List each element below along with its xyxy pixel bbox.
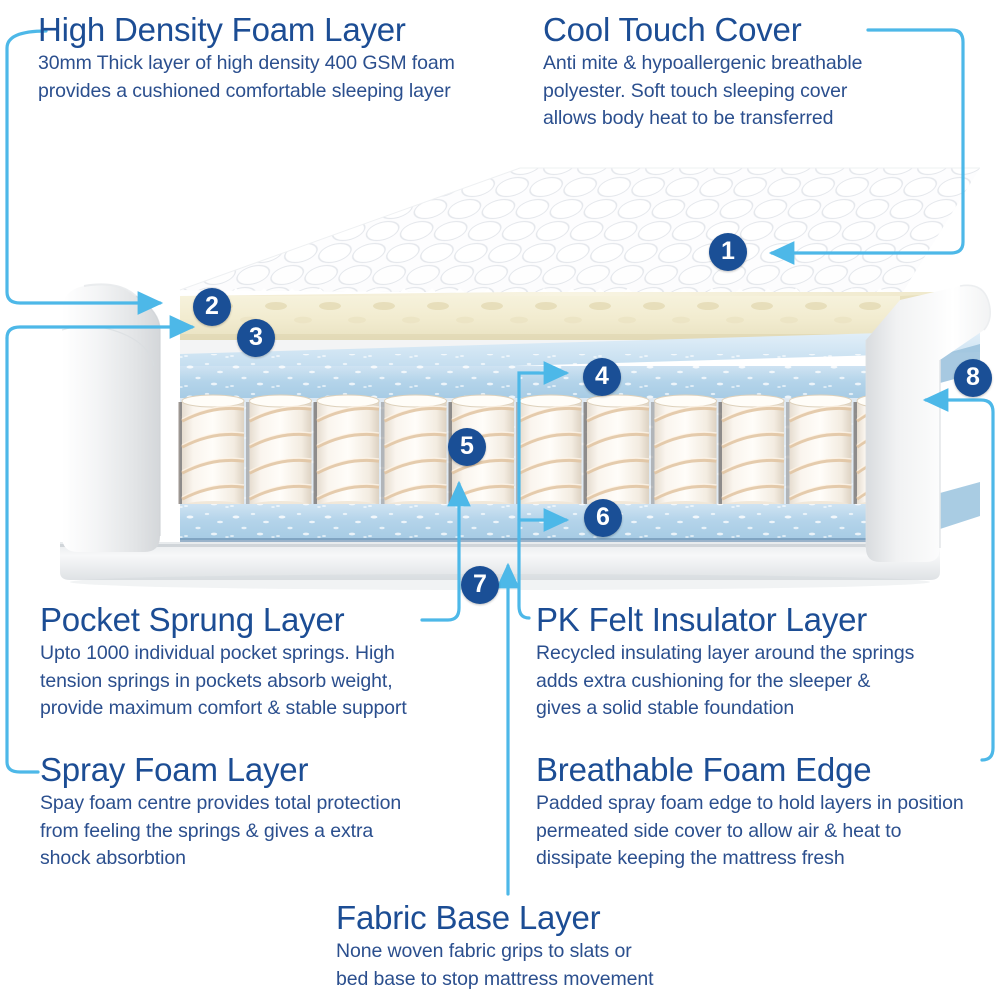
badge-8[interactable]: 8 — [954, 359, 992, 397]
callout-cool-touch-cover: Cool Touch Cover Anti mite & hypoallerge… — [543, 10, 862, 133]
badge-2[interactable]: 2 — [193, 288, 231, 326]
callout-title-high-density-foam: High Density Foam Layer — [38, 10, 455, 50]
callout-body-pk-felt: Recycled insulating layer around the spr… — [536, 640, 914, 723]
badge-4[interactable]: 4 — [583, 358, 621, 396]
callout-title-pk-felt: PK Felt Insulator Layer — [536, 600, 914, 640]
badge-2-label: 2 — [205, 294, 219, 319]
badge-6[interactable]: 6 — [584, 499, 622, 537]
callout-spray-foam-layer: Spray Foam Layer Spay foam centre provid… — [40, 750, 401, 873]
diagram-canvas: 1 2 3 4 5 6 7 8 High Density Foam Layer … — [0, 0, 1000, 1000]
callout-body-high-density-foam: 30mm Thick layer of high density 400 GSM… — [38, 50, 455, 105]
callout-breathable-foam-edge: Breathable Foam Edge Padded spray foam e… — [536, 750, 964, 873]
callout-pocket-sprung-layer: Pocket Sprung Layer Upto 1000 individual… — [40, 600, 407, 723]
callout-body-breathable-foam-edge: Padded spray foam edge to hold layers in… — [536, 790, 964, 873]
callout-title-breathable-foam-edge: Breathable Foam Edge — [536, 750, 964, 790]
callout-fabric-base-layer: Fabric Base Layer None woven fabric grip… — [336, 898, 653, 993]
callout-pk-felt-insulator-layer: PK Felt Insulator Layer Recycled insulat… — [536, 600, 914, 723]
badge-6-label: 6 — [596, 505, 610, 530]
callout-title-spray-foam: Spray Foam Layer — [40, 750, 401, 790]
breathable-foam-edge-left — [62, 284, 160, 552]
callout-body-fabric-base: None woven fabric grips to slats or bed … — [336, 938, 653, 993]
badge-4-label: 4 — [595, 364, 609, 389]
pocket-sprung-layer — [179, 395, 901, 511]
callout-body-pocket-sprung: Upto 1000 individual pocket springs. Hig… — [40, 640, 407, 723]
badge-8-label: 8 — [966, 365, 980, 390]
callout-body-spray-foam: Spay foam centre provides total protecti… — [40, 790, 401, 873]
badge-1[interactable]: 1 — [709, 233, 747, 271]
callout-high-density-foam-layer: High Density Foam Layer 30mm Thick layer… — [38, 10, 455, 105]
badge-3-label: 3 — [249, 325, 263, 350]
badge-5[interactable]: 5 — [448, 428, 486, 466]
callout-title-cool-touch-cover: Cool Touch Cover — [543, 10, 862, 50]
badge-7-label: 7 — [473, 572, 487, 597]
high-density-foam-layer — [180, 292, 980, 340]
cool-touch-cover-layer — [180, 168, 980, 296]
callout-title-fabric-base: Fabric Base Layer — [336, 898, 653, 938]
badge-7[interactable]: 7 — [461, 566, 499, 604]
badge-1-label: 1 — [721, 239, 735, 264]
badge-3[interactable]: 3 — [237, 319, 275, 357]
badge-5-label: 5 — [460, 434, 474, 459]
callout-title-pocket-sprung: Pocket Sprung Layer — [40, 600, 407, 640]
breathable-foam-edge-right — [866, 285, 990, 562]
callout-body-cool-touch-cover: Anti mite & hypoallergenic breathable po… — [543, 50, 862, 133]
